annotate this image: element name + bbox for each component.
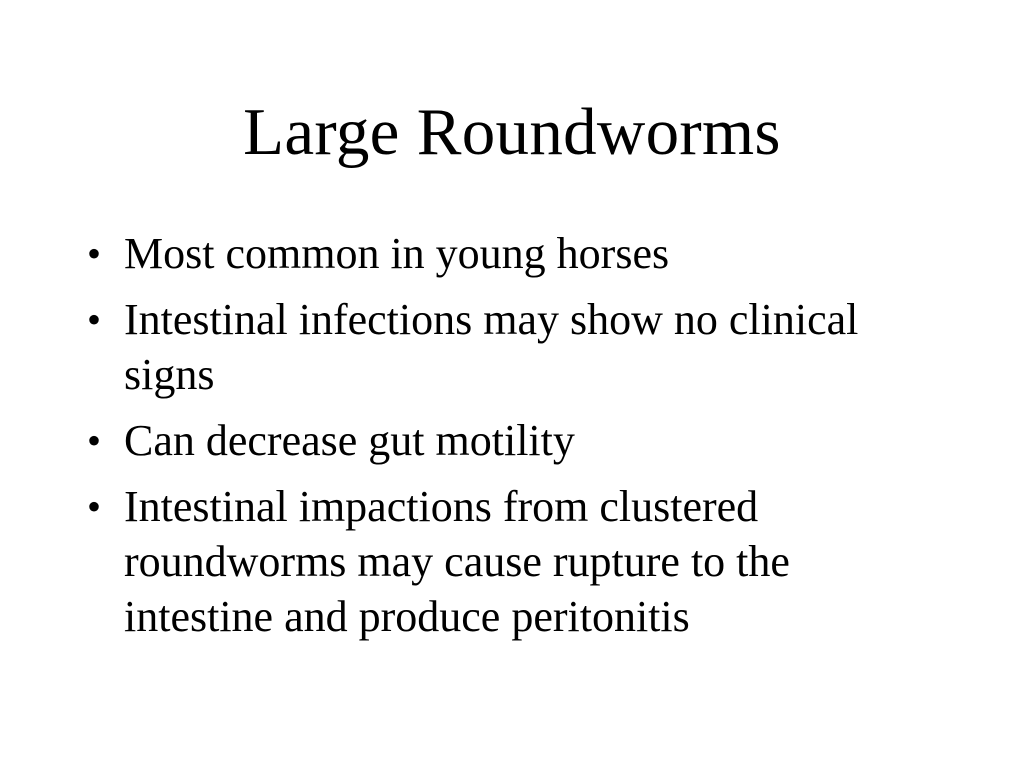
list-item[interactable]: • Most common in young horses: [84, 226, 914, 281]
bullet-point-icon: •: [87, 413, 109, 468]
list-item-label: Most common in young horses: [124, 226, 914, 281]
list-item-label: Can decrease gut motility: [124, 413, 914, 468]
list-item[interactable]: • Intestinal impactions from clustered r…: [84, 479, 914, 644]
bullet-point-icon: •: [87, 226, 109, 281]
list-item-label: Intestinal impactions from clustered rou…: [124, 479, 914, 644]
list-item[interactable]: • Intestinal infections may show no clin…: [84, 292, 914, 402]
bullet-point-icon: •: [87, 292, 109, 347]
bullet-point-icon: •: [87, 479, 109, 534]
page-title: Large Roundworms: [0, 96, 1024, 168]
presentation-slide: Large Roundworms • Most common in young …: [0, 0, 1024, 768]
list-item-label: Intestinal infections may show no clinic…: [124, 292, 914, 402]
list-item[interactable]: • Can decrease gut motility: [84, 413, 914, 468]
bullet-list: • Most common in young horses • Intestin…: [84, 226, 914, 644]
